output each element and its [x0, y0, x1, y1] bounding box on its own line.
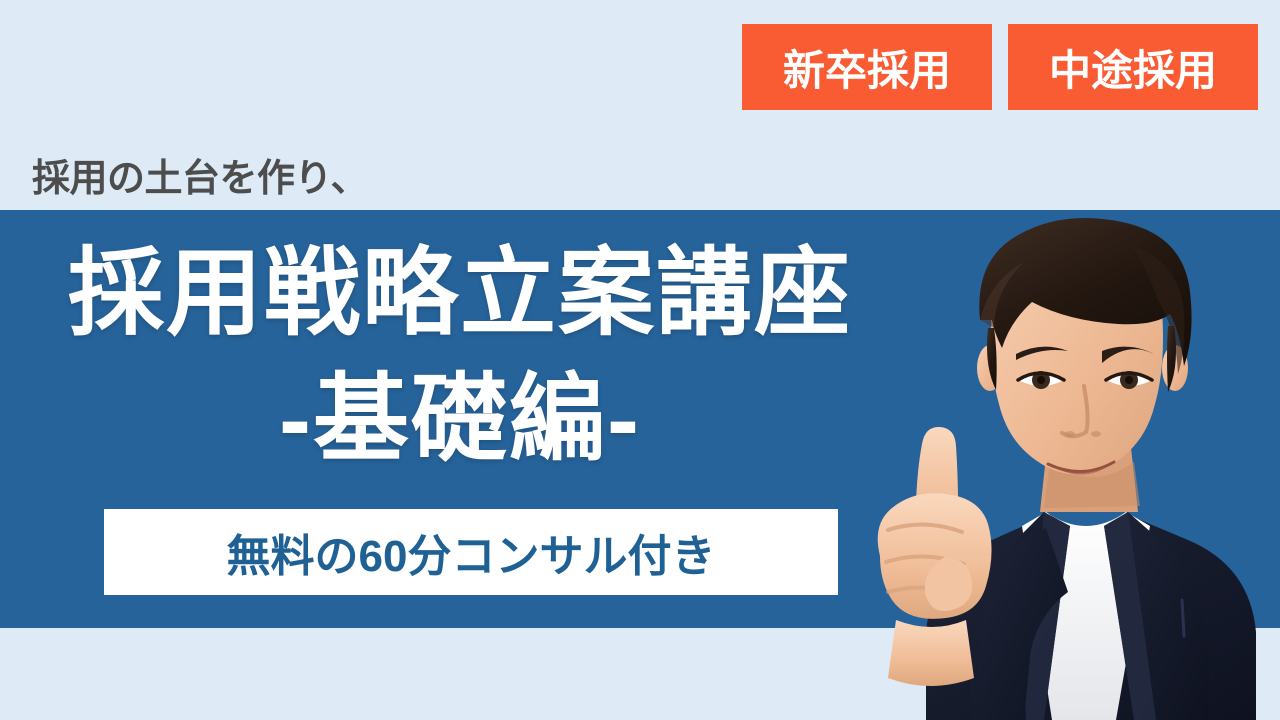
course-subtitle: -基礎編- [0, 370, 920, 470]
presenter-illustration [830, 200, 1280, 720]
callout-text: 無料の60分コンサル付き [227, 520, 716, 584]
headline-line-1: 採用の土台を作り、 [32, 154, 595, 205]
marketing-banner: 採用の土台を作り、 欲しい人財からの応募を獲得する 新卒採用 中途採用 採用戦略… [0, 0, 1280, 720]
badge-group: 新卒採用 中途採用 [742, 24, 1258, 110]
course-title: 採用戦略立案講座 [0, 244, 920, 344]
badge-mid-career[interactable]: 中途採用 [1008, 24, 1258, 110]
header-strip: 採用の土台を作り、 欲しい人財からの応募を獲得する 新卒採用 中途採用 [0, 0, 1280, 210]
callout-box: 無料の60分コンサル付き [104, 509, 838, 595]
presenter-photo [830, 200, 1280, 720]
badge-new-graduate[interactable]: 新卒採用 [742, 24, 992, 110]
